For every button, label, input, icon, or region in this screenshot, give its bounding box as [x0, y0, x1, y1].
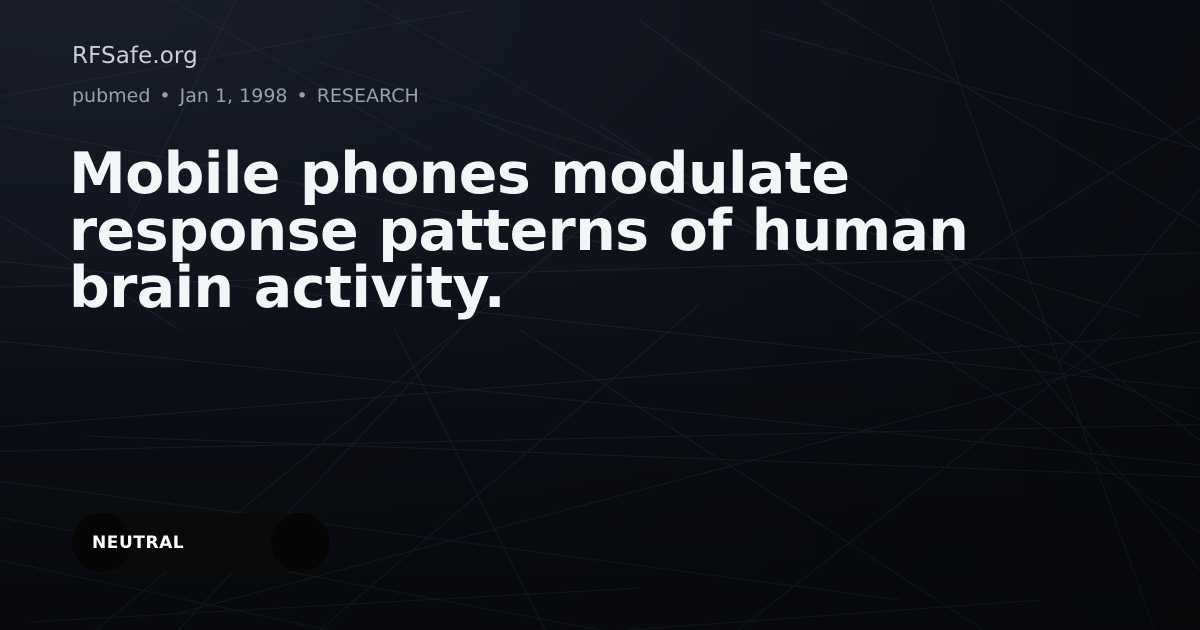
page-title: Mobile phones modulate response patterns…	[69, 146, 1069, 317]
card-content: RFSafe.org pubmed • Jan 1, 1998 • RESEAR…	[72, 0, 1128, 630]
status-badge-cap-right	[271, 513, 330, 572]
meta-category: RESEARCH	[317, 84, 419, 108]
article-meta: pubmed • Jan 1, 1998 • RESEARCH	[72, 84, 419, 108]
meta-source: pubmed	[72, 84, 150, 108]
meta-separator-1: •	[159, 84, 170, 108]
status-badge-label: NEUTRAL	[92, 513, 184, 572]
meta-date: Jan 1, 1998	[180, 84, 288, 108]
status-badge: NEUTRAL	[72, 513, 330, 572]
meta-separator-2: •	[297, 84, 308, 108]
social-share-card: RFSafe.org pubmed • Jan 1, 1998 • RESEAR…	[0, 0, 1200, 630]
site-name: RFSafe.org	[72, 42, 198, 70]
